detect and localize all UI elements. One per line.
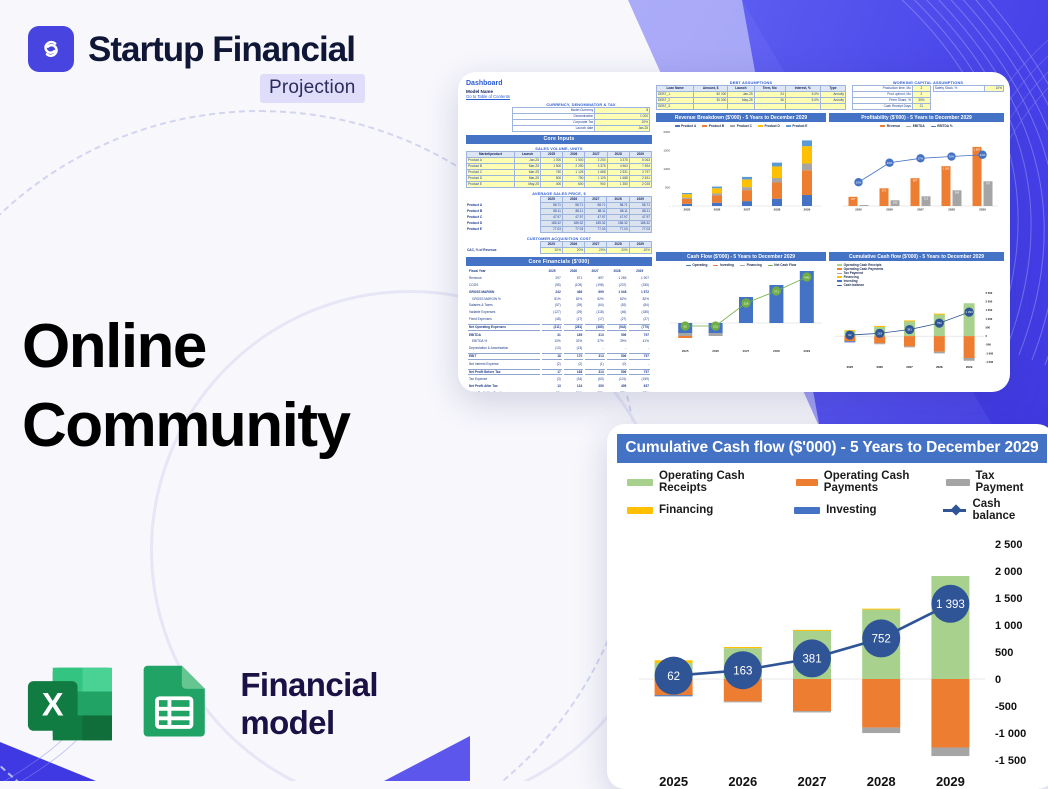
legend-swatch — [675, 125, 680, 127]
svg-text:2 000: 2 000 — [986, 300, 993, 304]
cumulative-cash-flow-card[interactable]: Cumulative Cash flow ($'000) - 5 Years t… — [607, 424, 1048, 789]
svg-text:1 000: 1 000 — [995, 620, 1023, 632]
legend-swatch — [758, 125, 763, 127]
circular-e-logo-icon — [28, 26, 74, 72]
legend-swatch — [837, 264, 842, 266]
legend-swatch — [713, 265, 718, 266]
logo-glyph — [36, 34, 66, 64]
svg-text:41%: 41% — [980, 153, 986, 157]
legend-swatch — [946, 479, 970, 486]
svg-text:1 393: 1 393 — [965, 310, 973, 314]
svg-text:2027: 2027 — [744, 208, 751, 212]
legend-investing: Investing — [794, 498, 943, 522]
svg-text:500: 500 — [665, 186, 670, 190]
table-row: Product E77.0377.0377.0377.0377.03 — [466, 227, 652, 233]
svg-text:897: 897 — [913, 179, 918, 183]
table-row: Net Operating Expenses(211)(281)(385)(54… — [468, 324, 650, 331]
svg-text:2025: 2025 — [855, 208, 862, 212]
svg-text:-1 000: -1 000 — [995, 728, 1026, 740]
svg-text:2029: 2029 — [803, 349, 810, 353]
svg-text:2026: 2026 — [876, 365, 883, 369]
svg-text:163: 163 — [877, 332, 882, 336]
svg-text:2029: 2029 — [804, 208, 811, 212]
svg-text:1 500: 1 500 — [995, 593, 1023, 605]
table-row: Net Profit Before Tax17168313506797 — [468, 369, 650, 376]
svg-text:62: 62 — [684, 325, 688, 329]
legend-swatch — [796, 479, 818, 486]
working-capital-table: Production time, Mo2Prod upfront, Mo2Pre… — [852, 85, 931, 110]
legend-swatch — [786, 125, 791, 127]
svg-text:-1 500: -1 500 — [986, 360, 994, 364]
google-sheets-icon — [136, 658, 212, 750]
table-row: Tax Expense(3)(34)(63)(101)(159) — [468, 377, 650, 382]
table-row: EBITDA %10%32%37%39%41% — [468, 339, 650, 344]
table-row: Variable Expenses(127)(29)(118)(46)(185) — [468, 310, 650, 315]
core-financials-table: Fiscal Year 2025 2026 2027 2028 2029 Rev… — [466, 267, 652, 392]
legend-swatch — [880, 125, 885, 127]
sales-volume-table: Market/product Launch 2025 2026 2027 202… — [466, 151, 652, 188]
headline-line-1: Online — [22, 307, 350, 386]
debt-assumptions-table: Loan NameAmount, $LaunchTerm, MoInterest… — [656, 85, 846, 110]
legend-financing: Financing — [627, 498, 794, 522]
table-row: Launch dateJan-25 — [513, 125, 650, 131]
legend-swatch — [627, 507, 653, 514]
table-row: Cash Receipt Days21 — [853, 104, 931, 110]
svg-text:381: 381 — [802, 654, 821, 666]
svg-text:37%: 37% — [918, 157, 924, 161]
svg-text:2027: 2027 — [917, 208, 924, 212]
svg-text:381: 381 — [907, 328, 912, 332]
table-row: CAC, % of Revenue20%20%20%20%20% — [466, 248, 652, 254]
cumulative-cash-flow-mini-chart[interactable]: Cumulative Cash flow ($'000) - 5 Years t… — [829, 252, 1004, 388]
table-row: GROSS MARGIN %81%82%82%82%82% — [468, 297, 650, 302]
svg-text:1 000: 1 000 — [986, 317, 993, 321]
legend-cash-balance: Cash balance — [943, 498, 1039, 522]
cash-flow-legend: Operating Cash Receipts Operating Cash P… — [617, 463, 1047, 522]
svg-text:313: 313 — [924, 197, 929, 201]
legend-swatch — [906, 126, 911, 127]
cac-table: 2025 2026 2027 2028 2029 CAC, % of Reven… — [466, 241, 652, 254]
profitability-chart[interactable]: Profitability ($'000) - 5 Years to Decem… — [829, 113, 1004, 249]
brand-subtitle-wrap: Projection — [260, 74, 365, 103]
svg-text:2 000: 2 000 — [995, 566, 1023, 578]
svg-text:640: 640 — [804, 276, 809, 280]
legend-swatch — [702, 125, 707, 127]
svg-text:39%: 39% — [949, 155, 955, 159]
brand-name: Startup Financial — [88, 32, 355, 67]
svg-text:2025: 2025 — [659, 774, 688, 789]
table-row: Salaries & Taxes(57)(39)(64)(52)(84) — [468, 303, 650, 308]
table-row: DEBT_3 — [657, 104, 846, 110]
svg-text:2 500: 2 500 — [986, 291, 993, 295]
table-row: Net Interest Expense(2)(2)(1)(0)- — [468, 362, 650, 367]
headline-line-2: Community — [22, 386, 350, 465]
svg-text:2025: 2025 — [682, 349, 689, 353]
svg-text:2028: 2028 — [774, 208, 781, 212]
fiscal-year-label: Fiscal Year — [468, 269, 540, 274]
legend-swatch — [686, 265, 691, 266]
dashboard-spreadsheet-pane: Dashboard Model Name Go to Table of Cont… — [466, 80, 652, 388]
svg-text:-: - — [669, 204, 670, 208]
currency-table: Model Currency$ Denomination1 000 Corpor… — [512, 107, 650, 132]
file-format-label: Financial model — [240, 666, 470, 742]
svg-text:-500: -500 — [986, 343, 992, 347]
table-row: EBITDA31185313506797 — [468, 333, 650, 338]
cash-flow-plot: 2025202620272028202962101218371640 — [656, 267, 826, 357]
svg-text:2028: 2028 — [867, 774, 896, 789]
table-row: Fixed Expenses(48)(17)(17)(27)(27) — [468, 317, 650, 322]
legend-swatch — [931, 126, 936, 127]
svg-text:2027: 2027 — [798, 774, 827, 789]
svg-text:500: 500 — [995, 647, 1013, 659]
svg-text:1 393: 1 393 — [936, 599, 965, 611]
svg-text:0: 0 — [995, 674, 1001, 686]
svg-text:1000: 1000 — [663, 167, 670, 171]
svg-text:1 285: 1 285 — [943, 167, 950, 171]
svg-text:2029: 2029 — [936, 774, 965, 789]
core-inputs-band: Core Inputs — [466, 135, 652, 144]
left-content-column: Startup Financial Projection Online Comm… — [0, 0, 470, 781]
svg-text:2026: 2026 — [728, 774, 757, 789]
svg-text:163: 163 — [733, 665, 752, 677]
table-row: Safety Stock, % 10% — [933, 86, 1003, 92]
profitability-plot: 297312025571185202689731320271 285506202… — [829, 128, 1004, 216]
table-row: EBIT18170313506797 — [468, 353, 650, 360]
table-of-contents-link[interactable]: Go to Table of Contents — [466, 94, 510, 99]
cash-flow-chart[interactable]: Cash Flow ($'000) - 5 Years to December … — [656, 252, 826, 388]
page-title: Online Community — [22, 307, 350, 466]
svg-text:X: X — [42, 686, 64, 722]
cash-flow-chart-title: Cumulative Cash flow ($'000) - 5 Years t… — [617, 434, 1047, 463]
svg-text:2028: 2028 — [773, 349, 780, 353]
svg-text:797: 797 — [986, 182, 991, 186]
svg-text:101: 101 — [713, 325, 718, 329]
svg-text:-1 000: -1 000 — [986, 352, 994, 356]
svg-text:752: 752 — [937, 321, 942, 325]
svg-text:2029: 2029 — [966, 365, 973, 369]
dashboard-title: Dashboard — [466, 80, 510, 89]
svg-text:2000: 2000 — [663, 130, 670, 134]
legend-swatch — [837, 285, 842, 286]
svg-text:2027: 2027 — [743, 349, 750, 353]
svg-text:218: 218 — [744, 302, 749, 306]
svg-text:1 500: 1 500 — [986, 308, 993, 312]
svg-text:-1 500: -1 500 — [995, 755, 1026, 767]
svg-text:185: 185 — [893, 201, 898, 205]
table-row: Product EMay-254006009001 3502 025 — [467, 182, 652, 188]
table-row: Net Profit After Tax %5%24%28%32%33% — [468, 391, 650, 392]
svg-text:32%: 32% — [887, 161, 893, 165]
legend-swatch — [627, 479, 653, 486]
svg-text:2 500: 2 500 — [995, 539, 1023, 551]
file-format-row: X Financial model — [26, 658, 470, 750]
legend-swatch — [837, 276, 842, 278]
svg-text:2025: 2025 — [684, 208, 691, 212]
svg-text:371: 371 — [774, 290, 779, 294]
svg-text:752: 752 — [872, 634, 891, 646]
svg-text:1500: 1500 — [663, 149, 670, 153]
svg-text:2026: 2026 — [886, 208, 893, 212]
svg-text:10%: 10% — [856, 181, 862, 185]
cumulative-cash-flow-plot: 2 5002 0001 5001 0005000-500-1 000-1 500… — [617, 526, 1048, 789]
svg-text:297: 297 — [851, 197, 856, 201]
dashboard-charts-pane: DEBT ASSUMPTIONS Loan NameAmount, $Launc… — [656, 80, 1004, 388]
svg-text:2029: 2029 — [979, 208, 986, 212]
svg-text:2025: 2025 — [847, 365, 854, 369]
svg-text:500: 500 — [986, 326, 991, 330]
svg-text:62: 62 — [848, 333, 852, 337]
svg-text:-500: -500 — [995, 701, 1017, 713]
legend-swatch — [837, 273, 842, 274]
svg-text:506: 506 — [955, 191, 960, 195]
svg-text:2028: 2028 — [948, 208, 955, 212]
core-financials-band: Core Financials ($'000) — [466, 257, 652, 266]
table-row: Depreciation & Amortization(13)(13)--- — [468, 346, 650, 351]
brand-lockup: Startup Financial — [28, 26, 355, 72]
table-row: Revenue2975718971 2851 907 — [468, 276, 650, 281]
table-row: GROSS MARGIN2424666991 0481 572 — [468, 290, 650, 295]
svg-text:2027: 2027 — [906, 365, 913, 369]
table-row: Net Profit After Tax13134250405637 — [468, 384, 650, 389]
legend-tax-payment: Tax Payment — [946, 470, 1039, 494]
legend-swatch — [837, 268, 842, 270]
legend-swatch — [837, 280, 842, 282]
dashboard-screenshot-card[interactable]: Dashboard Model Name Go to Table of Cont… — [458, 72, 1010, 392]
legend-line-marker — [943, 509, 966, 512]
svg-text:62: 62 — [667, 671, 680, 683]
svg-text:1 907: 1 907 — [974, 148, 981, 152]
revenue-breakdown-plot: - 500 1000 1500 200020252026202720282029 — [656, 128, 826, 216]
legend-operating-cash-payments: Operating Cash Payments — [796, 470, 946, 494]
svg-text:2026: 2026 — [712, 349, 719, 353]
cumulative-cash-flow-mini-plot: 2 5002 0001 5001 0005000-500-1 000-1 500… — [829, 287, 1004, 371]
average-price-table: 2025 2026 2027 2028 2029 Product A58.715… — [466, 196, 652, 233]
svg-text:2028: 2028 — [936, 365, 943, 369]
safety-stock-table: Safety Stock, % 10% — [933, 85, 1004, 92]
svg-text:0: 0 — [986, 334, 988, 338]
revenue-breakdown-chart[interactable]: Revenue Breakdown ($'000) - 5 Years to D… — [656, 113, 826, 249]
legend-swatch — [740, 265, 745, 266]
svg-text:2026: 2026 — [714, 208, 721, 212]
table-row: COGS(55)(105)(198)(237)(335) — [468, 283, 650, 288]
microsoft-excel-icon: X — [26, 658, 114, 750]
brand-subtitle: Projection — [260, 74, 365, 103]
legend-swatch — [768, 265, 773, 266]
svg-text:571: 571 — [882, 189, 887, 193]
legend-swatch — [730, 125, 735, 127]
legend-operating-cash-receipts: Operating Cash Receipts — [627, 470, 796, 494]
legend-swatch — [794, 507, 820, 514]
